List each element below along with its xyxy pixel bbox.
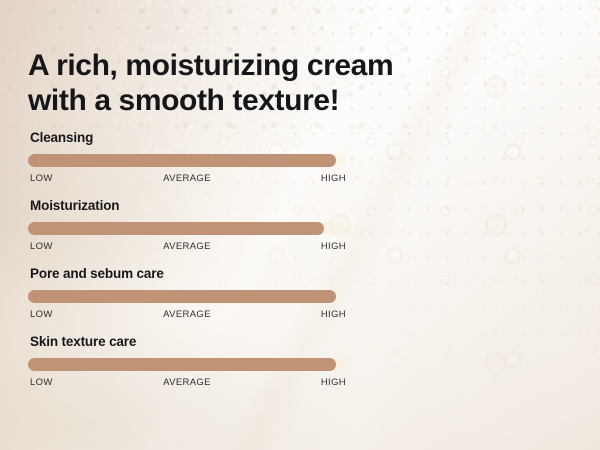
metric-label: Moisturization: [28, 198, 346, 214]
metric-scale: LOW AVERAGE HIGH: [28, 241, 346, 253]
metric-row-cleansing: Cleansing LOW AVERAGE HIGH: [28, 130, 346, 198]
metric-bar-track: [28, 358, 346, 371]
scale-label-average: AVERAGE: [163, 173, 211, 184]
metric-row-moisturization: Moisturization LOW AVERAGE HIGH: [28, 198, 346, 266]
metric-scale: LOW AVERAGE HIGH: [28, 377, 346, 389]
metric-label: Cleansing: [28, 130, 346, 146]
scale-label-low: LOW: [30, 173, 53, 184]
metric-row-pore-and-sebum-care: Pore and sebum care LOW AVERAGE HIGH: [28, 266, 346, 334]
metric-bar-fill: [28, 358, 336, 371]
scale-label-high: HIGH: [321, 173, 346, 184]
metrics-list: Cleansing LOW AVERAGE HIGH Moisturizatio…: [28, 130, 346, 402]
metric-bar-fill: [28, 290, 336, 303]
scale-label-high: HIGH: [321, 241, 346, 252]
metric-label: Skin texture care: [28, 334, 346, 350]
metric-scale: LOW AVERAGE HIGH: [28, 173, 346, 185]
metric-bar-track: [28, 290, 346, 303]
metric-row-skin-texture-care: Skin texture care LOW AVERAGE HIGH: [28, 334, 346, 402]
product-rating-infographic: A rich, moisturizing cream with a smooth…: [0, 0, 600, 450]
scale-label-average: AVERAGE: [163, 309, 211, 320]
scale-label-average: AVERAGE: [163, 241, 211, 252]
scale-label-high: HIGH: [321, 309, 346, 320]
scale-label-low: LOW: [30, 309, 53, 320]
headline: A rich, moisturizing cream with a smooth…: [28, 48, 468, 118]
metric-bar-fill: [28, 222, 324, 235]
scale-label-average: AVERAGE: [163, 377, 211, 388]
metric-scale: LOW AVERAGE HIGH: [28, 309, 346, 321]
scale-label-low: LOW: [30, 241, 53, 252]
scale-label-high: HIGH: [321, 377, 346, 388]
metric-bar-fill: [28, 154, 336, 167]
content-layer: A rich, moisturizing cream with a smooth…: [0, 0, 600, 450]
metric-bar-track: [28, 154, 346, 167]
scale-label-low: LOW: [30, 377, 53, 388]
metric-label: Pore and sebum care: [28, 266, 346, 282]
metric-bar-track: [28, 222, 346, 235]
